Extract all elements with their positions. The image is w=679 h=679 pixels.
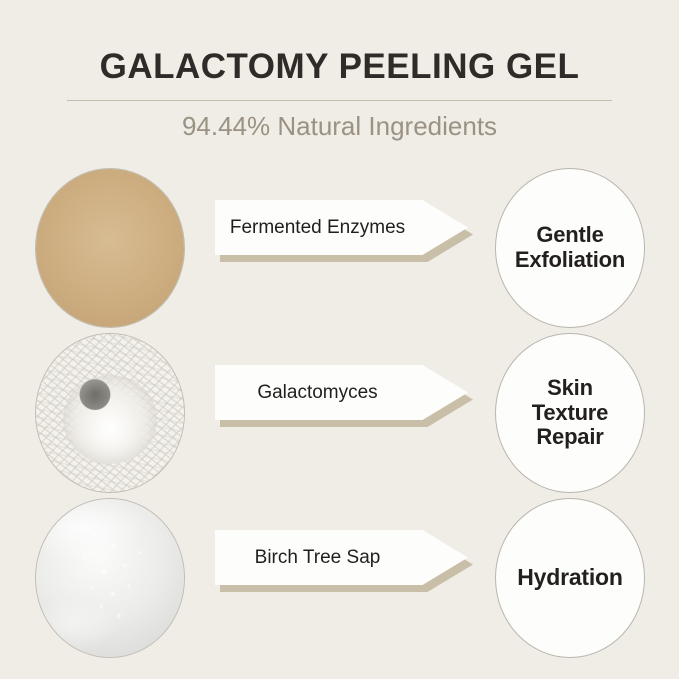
- ingredient-row: Galactomyces Skin Texture Repair: [0, 333, 679, 493]
- benefit-circle: Hydration: [495, 498, 645, 658]
- benefit-circle: Gentle Exfoliation: [495, 168, 645, 328]
- soybeans-image: [36, 169, 184, 327]
- ingredient-label: Galactomyces: [215, 382, 420, 404]
- benefit-circle: Skin Texture Repair: [495, 333, 645, 493]
- ingredient-banner: Birch Tree Sap: [215, 530, 473, 592]
- ingredient-row: Fermented Enzymes Gentle Exfoliation: [0, 168, 679, 328]
- page-title: GALACTOMY PEELING GEL: [0, 47, 679, 87]
- banner-face: Fermented Enzymes: [215, 200, 468, 255]
- ingredient-label: Fermented Enzymes: [215, 217, 420, 239]
- soybeans-photo: [35, 168, 185, 328]
- banner-face: Birch Tree Sap: [215, 530, 468, 585]
- rice-image: [36, 334, 184, 492]
- gel-photo: [35, 498, 185, 658]
- ingredient-banner: Fermented Enzymes: [215, 200, 473, 262]
- ingredient-label: Birch Tree Sap: [215, 547, 420, 569]
- ingredient-row: Birch Tree Sap Hydration: [0, 498, 679, 658]
- subtitle: 94.44% Natural Ingredients: [0, 111, 679, 142]
- benefit-label: Hydration: [517, 565, 623, 591]
- benefit-label: Skin Texture Repair: [532, 376, 608, 450]
- rice-photo: [35, 333, 185, 493]
- header: GALACTOMY PEELING GEL 94.44% Natural Ing…: [0, 0, 679, 160]
- title-divider: [67, 100, 612, 101]
- banner-face: Galactomyces: [215, 365, 468, 420]
- gel-image: [36, 499, 184, 657]
- ingredient-banner: Galactomyces: [215, 365, 473, 427]
- benefit-label: Gentle Exfoliation: [515, 223, 625, 272]
